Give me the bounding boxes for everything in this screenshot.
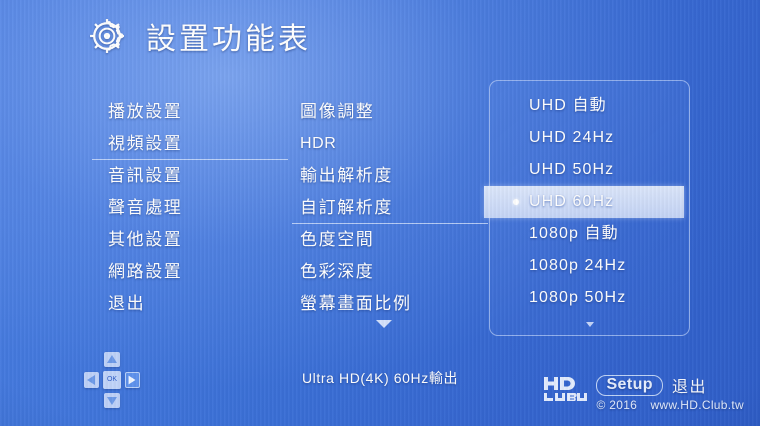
option-label: UHD 50Hz bbox=[529, 161, 614, 178]
copyright-year: © 2016 bbox=[596, 398, 637, 412]
radio-selected-icon bbox=[513, 199, 519, 205]
menu-item-custom-resolution[interactable]: 自訂解析度 bbox=[300, 192, 490, 224]
page-title: 設置功能表 bbox=[146, 14, 311, 58]
watermark: Setup 退出 © 2016 www.HD.Club.tw bbox=[543, 373, 744, 412]
option-label: UHD 自動 bbox=[529, 97, 607, 114]
gear-icon bbox=[86, 15, 128, 57]
option-uhd-60hz[interactable]: UHD 60Hz bbox=[484, 186, 684, 218]
option-uhd-24hz[interactable]: UHD 24Hz bbox=[490, 122, 691, 154]
menu-item-output-resolution[interactable]: 輸出解析度 bbox=[300, 160, 490, 192]
left-menu: 播放設置 視頻設置 音訊設置 聲音處理 其他設置 網路設置 退出 bbox=[108, 96, 288, 320]
menu-item-aspect-ratio[interactable]: 螢幕畫面比例 bbox=[300, 288, 490, 320]
option-label: UHD 60Hz bbox=[529, 193, 614, 210]
menu-item-picture-adjust[interactable]: 圖像調整 bbox=[300, 96, 490, 128]
setup-button[interactable]: Setup bbox=[596, 375, 662, 396]
option-label: 1080p 50Hz bbox=[529, 289, 626, 306]
option-uhd-auto[interactable]: UHD 自動 bbox=[490, 90, 691, 122]
hd-club-logo-icon bbox=[543, 375, 589, 403]
site-url: www.HD.Club.tw bbox=[650, 398, 744, 412]
menu-item-hdr[interactable]: HDR bbox=[300, 128, 490, 160]
option-1080p-auto[interactable]: 1080p 自動 bbox=[490, 218, 691, 250]
sidebar-item-playback[interactable]: 播放設置 bbox=[108, 96, 288, 128]
menu-item-color-depth[interactable]: 色彩深度 bbox=[300, 256, 490, 288]
middle-menu-divider bbox=[292, 223, 488, 224]
sidebar-item-exit[interactable]: 退出 bbox=[108, 288, 288, 320]
left-menu-divider bbox=[92, 159, 288, 160]
option-label: 1080p 24Hz bbox=[529, 257, 626, 274]
option-1080p-50hz[interactable]: 1080p 50Hz bbox=[490, 282, 691, 314]
sidebar-item-other[interactable]: 其他設置 bbox=[108, 224, 288, 256]
arrow-down-icon[interactable] bbox=[104, 393, 120, 408]
resolution-options-list: UHD 自動 UHD 24Hz UHD 50Hz UHD 60Hz 1080p … bbox=[490, 90, 691, 314]
option-label: UHD 24Hz bbox=[529, 129, 614, 146]
resolution-options-panel: UHD 自動 UHD 24Hz UHD 50Hz UHD 60Hz 1080p … bbox=[489, 80, 690, 336]
exit-label: 退出 bbox=[672, 373, 707, 397]
sidebar-item-network[interactable]: 網路設置 bbox=[108, 256, 288, 288]
osd-screen: 設置功能表 播放設置 視頻設置 音訊設置 聲音處理 其他設置 網路設置 退出 圖… bbox=[0, 0, 760, 426]
watermark-top-row: Setup 退出 bbox=[596, 373, 744, 397]
arrow-up-icon[interactable] bbox=[104, 352, 120, 367]
chevron-down-icon[interactable] bbox=[586, 322, 594, 327]
sidebar-item-video[interactable]: 視頻設置 bbox=[108, 128, 288, 160]
watermark-copyright: © 2016 www.HD.Club.tw bbox=[596, 398, 744, 412]
page-header: 設置功能表 bbox=[86, 14, 311, 58]
option-uhd-50hz[interactable]: UHD 50Hz bbox=[490, 154, 691, 186]
watermark-text-block: Setup 退出 © 2016 www.HD.Club.tw bbox=[596, 373, 744, 412]
sidebar-item-sound[interactable]: 聲音處理 bbox=[108, 192, 288, 224]
sidebar-item-audio[interactable]: 音訊設置 bbox=[108, 160, 288, 192]
option-1080p-24hz[interactable]: 1080p 24Hz bbox=[490, 250, 691, 282]
middle-menu: 圖像調整 HDR 輸出解析度 自訂解析度 色度空間 色彩深度 螢幕畫面比例 bbox=[300, 96, 490, 320]
menu-item-color-space[interactable]: 色度空間 bbox=[300, 224, 490, 256]
chevron-down-icon[interactable] bbox=[376, 320, 392, 328]
option-label: 1080p 自動 bbox=[529, 225, 619, 242]
